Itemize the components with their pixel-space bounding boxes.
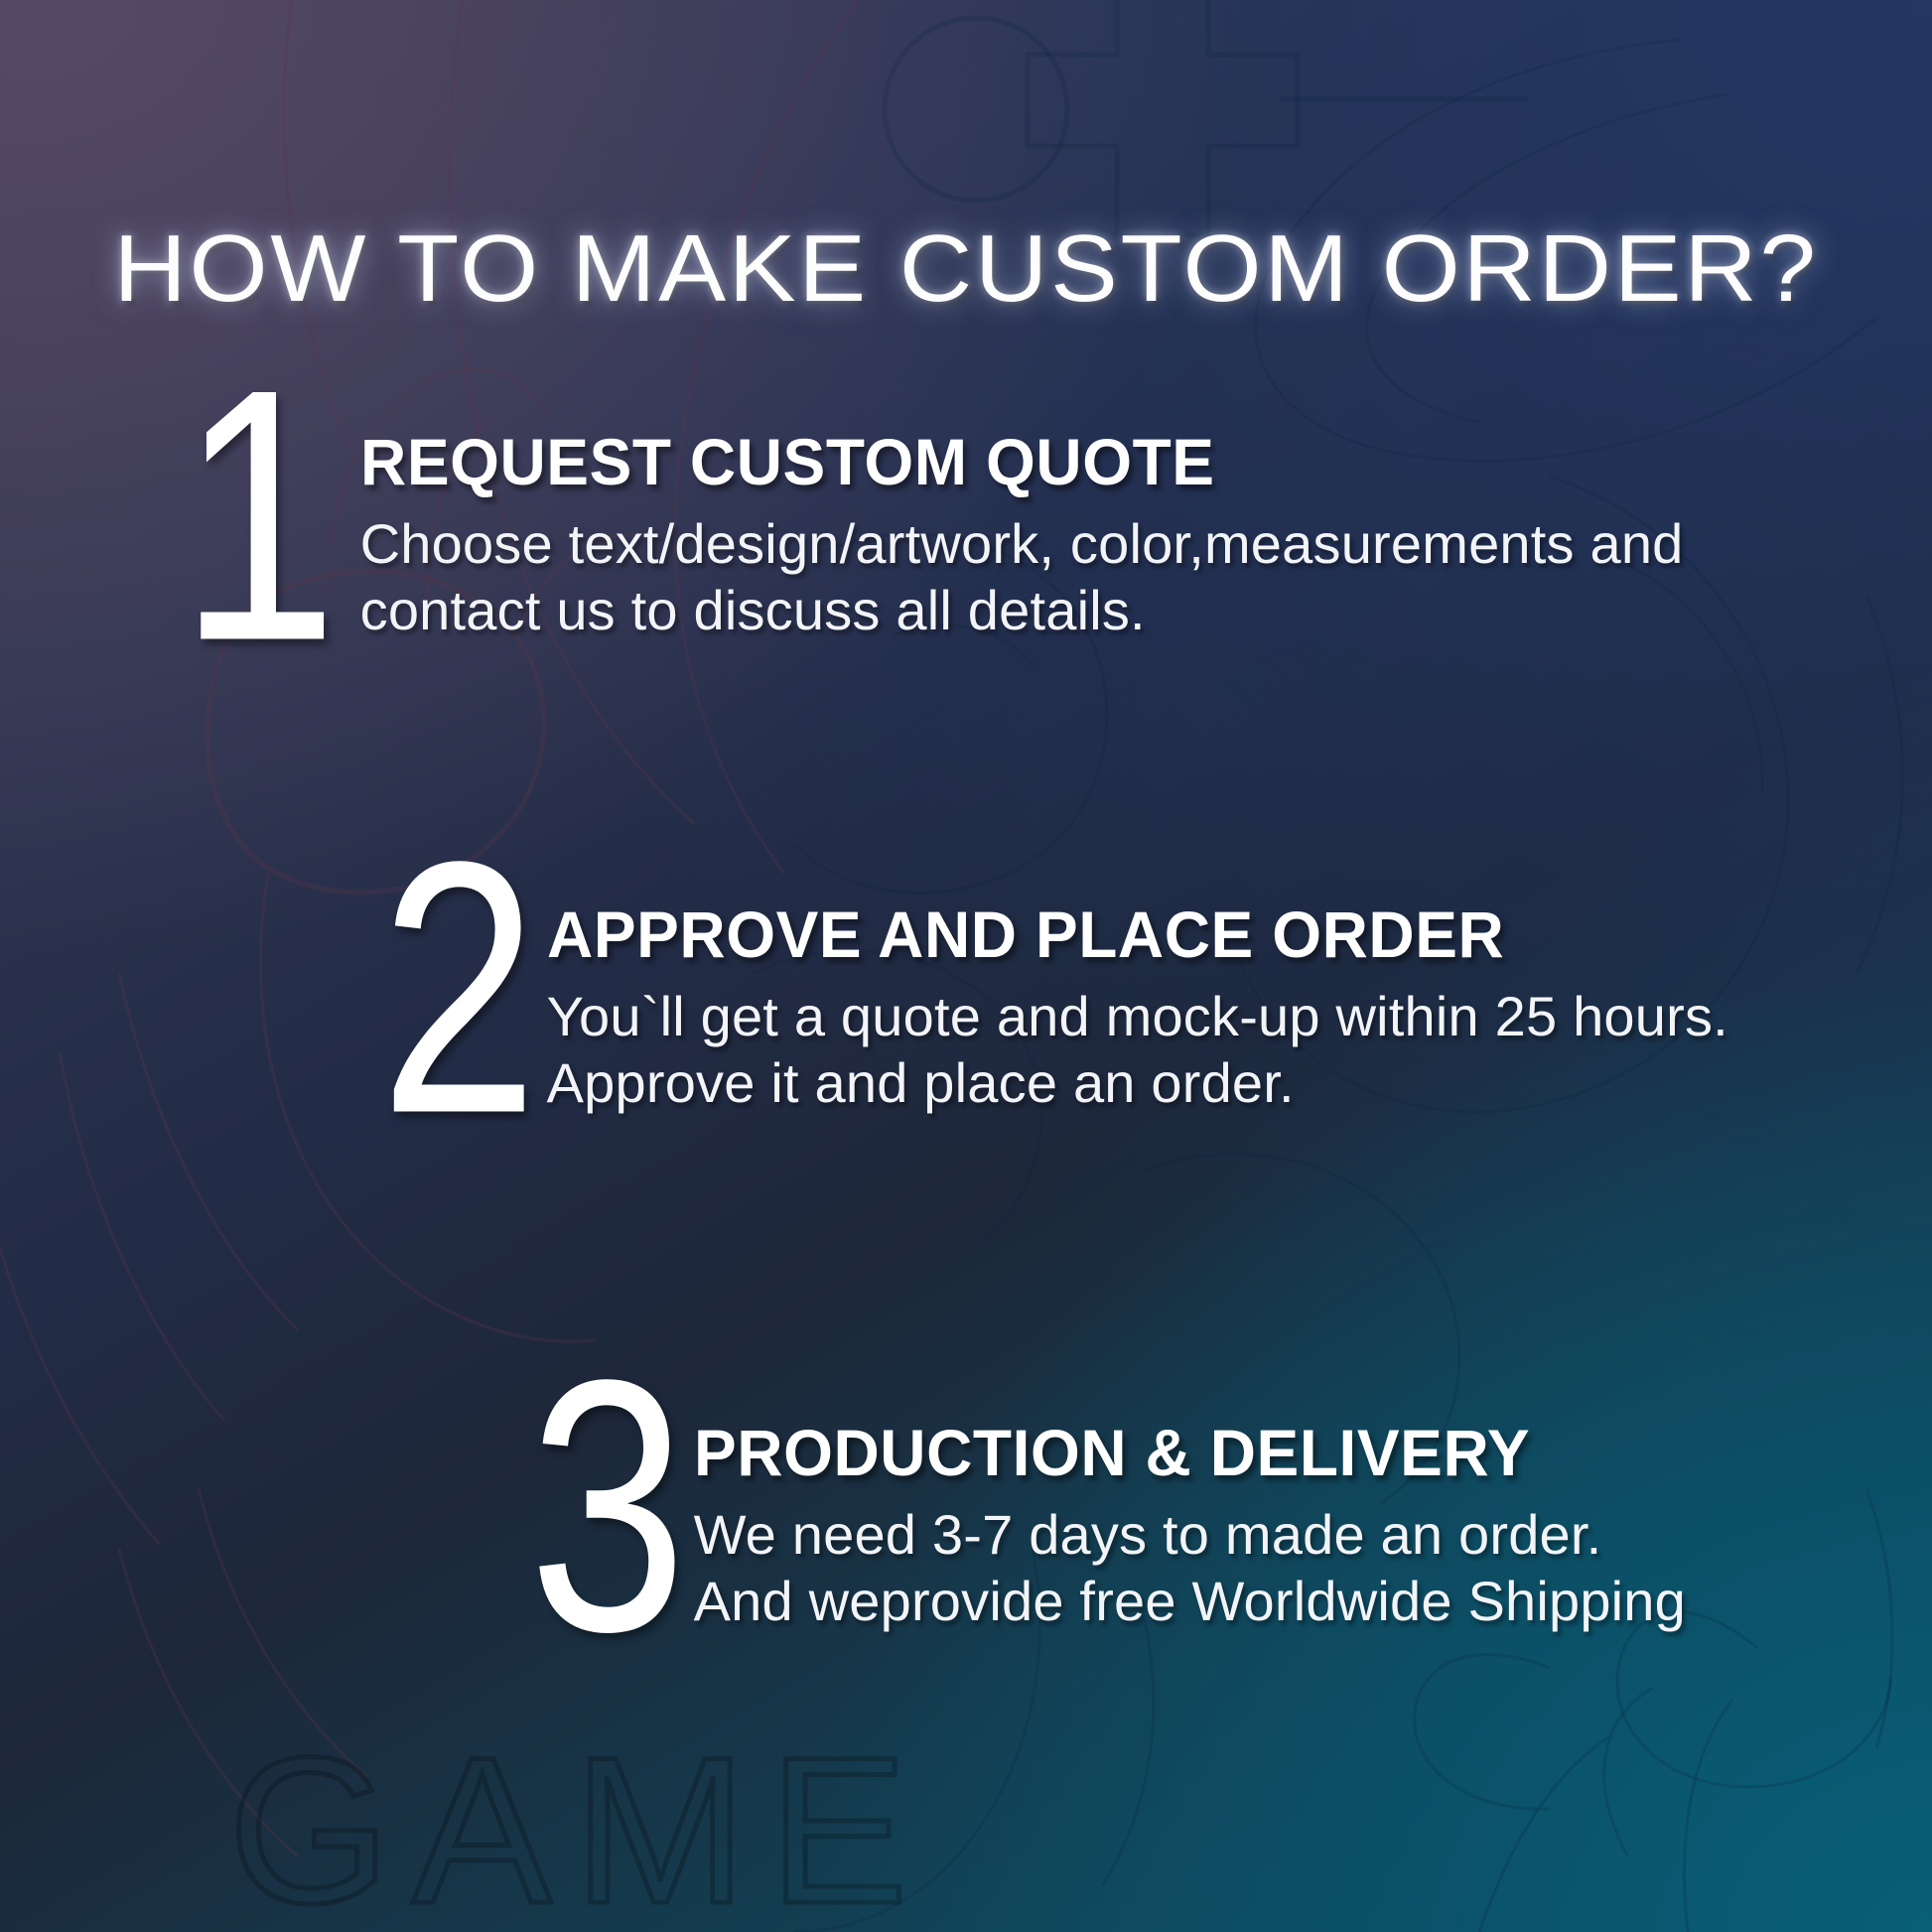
game-watermark: GAME bbox=[228, 1733, 1122, 1932]
step-heading-3: PRODUCTION & DELIVERY bbox=[694, 1420, 1656, 1485]
step-number-3: 3 bbox=[528, 1373, 681, 1638]
step-body-2: You`ll get a quote and mock-up within 25… bbox=[547, 985, 1728, 1116]
step-text-3: PRODUCTION & DELIVERY We need 3-7 days t… bbox=[694, 1420, 1686, 1638]
page-title: HOW TO MAKE CUSTOM ORDER? bbox=[0, 214, 1932, 324]
promo-poster: GAME HOW TO MAKE CUSTOM ORDER? 1 REQUEST… bbox=[0, 0, 1932, 1932]
step-body-line: And weprovide free Worldwide Shipping bbox=[694, 1570, 1686, 1634]
step-item-1: 1 REQUEST CUSTOM QUOTE Choose text/desig… bbox=[177, 429, 1684, 647]
game-watermark-text: GAME bbox=[228, 1733, 929, 1932]
step-body-3: We need 3-7 days to made an order. And w… bbox=[694, 1503, 1686, 1634]
step-body-line: Approve it and place an order. bbox=[547, 1051, 1728, 1116]
step-body-line: contact us to discuss all details. bbox=[360, 579, 1684, 643]
step-number-2: 2 bbox=[379, 855, 532, 1120]
step-body-1: Choose text/design/artwork, color,measur… bbox=[360, 512, 1684, 643]
step-body-line: You`ll get a quote and mock-up within 25… bbox=[547, 985, 1728, 1049]
step-text-2: APPROVE AND PLACE ORDER You`ll get a quo… bbox=[547, 901, 1728, 1120]
step-heading-2: APPROVE AND PLACE ORDER bbox=[547, 901, 1694, 967]
step-number-1: 1 bbox=[179, 382, 332, 647]
step-body-line: We need 3-7 days to made an order. bbox=[694, 1503, 1686, 1568]
step-item-3: 3 PRODUCTION & DELIVERY We need 3-7 days… bbox=[526, 1420, 1686, 1638]
step-heading-1: REQUEST CUSTOM QUOTE bbox=[360, 429, 1644, 494]
step-text-1: REQUEST CUSTOM QUOTE Choose text/design/… bbox=[360, 429, 1684, 647]
step-item-2: 2 APPROVE AND PLACE ORDER You`ll get a q… bbox=[377, 901, 1728, 1120]
step-body-line: Choose text/design/artwork, color,measur… bbox=[360, 512, 1684, 577]
